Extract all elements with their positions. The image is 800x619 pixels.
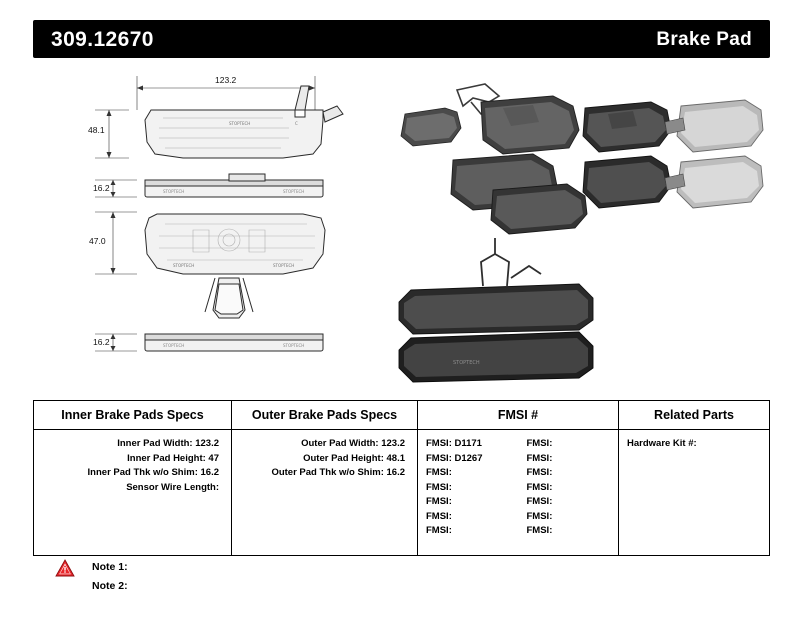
cell-related-parts: Hardware Kit #: [619, 430, 769, 555]
page-title: Brake Pad [656, 29, 752, 51]
fmsi-right: FMSI: [519, 510, 619, 525]
note-1-label: Note 1: [92, 561, 128, 573]
header-bar: 309.12670 Brake Pad [33, 20, 770, 58]
fmsi-row: FMSI: D1267 FMSI: [418, 452, 618, 467]
fmsi-left: FMSI: [418, 466, 519, 481]
svg-text:STOPTECH: STOPTECH [453, 360, 480, 366]
fmsi-left: FMSI: D1171 [418, 437, 519, 452]
fmsi-row: FMSI: FMSI: [418, 495, 618, 510]
fmsi-right: FMSI: [519, 466, 619, 481]
svg-text:STOPTECH: STOPTECH [283, 189, 304, 194]
note-row: Note 2: [55, 576, 355, 595]
svg-text:STOPTECH: STOPTECH [273, 263, 294, 268]
header-fmsi: FMSI # [418, 401, 619, 429]
fmsi-left: FMSI: [418, 481, 519, 496]
cell-fmsi: FMSI: D1171 FMSI: FMSI: D1267 FMSI: FMSI… [418, 430, 619, 555]
cell-outer-specs: Outer Pad Width: 123.2 Outer Pad Height:… [232, 430, 418, 555]
pad-diagrams-svg: STOPTECH C STOPTECH [33, 62, 770, 392]
fmsi-right: FMSI: [519, 524, 619, 539]
fmsi-left: FMSI: [418, 495, 519, 510]
brake-pad-spec-sheet: 309.12670 Brake Pad [0, 0, 800, 619]
dimension-outer-height: 47.0 [89, 236, 106, 246]
outer-spec-line: Outer Pad Thk w/o Shim: 16.2 [232, 466, 417, 481]
outer-spec-line: Outer Pad Height: 48.1 [232, 452, 417, 467]
svg-text:STOPTECH: STOPTECH [229, 121, 250, 126]
fmsi-right: FMSI: [519, 481, 619, 496]
svg-text:STOPTECH: STOPTECH [163, 189, 184, 194]
inner-spec-line: Sensor Wire Length: [34, 481, 231, 496]
warning-triangle-icon [55, 559, 75, 577]
dimension-inner-thickness: 16.2 [93, 183, 110, 193]
dimension-outer-thickness: 16.2 [93, 337, 110, 347]
inner-spec-line: Inner Pad Width: 123.2 [34, 437, 231, 452]
cell-inner-specs: Inner Pad Width: 123.2 Inner Pad Height:… [34, 430, 232, 555]
inner-spec-line: Inner Pad Height: 47 [34, 452, 231, 467]
fmsi-right: FMSI: [519, 437, 619, 452]
fmsi-left: FMSI: D1267 [418, 452, 519, 467]
inner-spec-line: Inner Pad Thk w/o Shim: 16.2 [34, 466, 231, 481]
part-number: 309.12670 [51, 28, 154, 52]
specs-table-header-row: Inner Brake Pads Specs Outer Brake Pads … [34, 401, 769, 430]
svg-text:STOPTECH: STOPTECH [163, 343, 184, 348]
dimension-inner-width: 123.2 [215, 75, 236, 85]
specs-table-body: Inner Pad Width: 123.2 Inner Pad Height:… [34, 430, 769, 555]
fmsi-right: FMSI: [519, 495, 619, 510]
svg-text:STOPTECH: STOPTECH [173, 263, 194, 268]
fmsi-row: FMSI: FMSI: [418, 466, 618, 481]
technical-drawing-area: STOPTECH C STOPTECH [33, 62, 770, 392]
fmsi-row: FMSI: D1171 FMSI: [418, 437, 618, 452]
fmsi-left: FMSI: [418, 510, 519, 525]
header-related-parts: Related Parts [619, 401, 769, 429]
notes-section: Note 1: Note 2: [55, 557, 355, 595]
fmsi-right: FMSI: [519, 452, 619, 467]
fmsi-left: FMSI: [418, 524, 519, 539]
header-outer-specs: Outer Brake Pads Specs [232, 401, 418, 429]
dimension-inner-height: 48.1 [88, 125, 105, 135]
svg-text:C: C [295, 121, 298, 126]
fmsi-row: FMSI: FMSI: [418, 481, 618, 496]
header-inner-specs: Inner Brake Pads Specs [34, 401, 232, 429]
fmsi-row: FMSI: FMSI: [418, 510, 618, 525]
outer-spec-line: Outer Pad Width: 123.2 [232, 437, 417, 452]
note-2-label: Note 2: [92, 580, 128, 592]
note-row: Note 1: [55, 557, 355, 576]
fmsi-row: FMSI: FMSI: [418, 524, 618, 539]
specs-table: Inner Brake Pads Specs Outer Brake Pads … [33, 400, 770, 556]
svg-text:STOPTECH: STOPTECH [283, 343, 304, 348]
related-part-line: Hardware Kit #: [619, 437, 769, 452]
